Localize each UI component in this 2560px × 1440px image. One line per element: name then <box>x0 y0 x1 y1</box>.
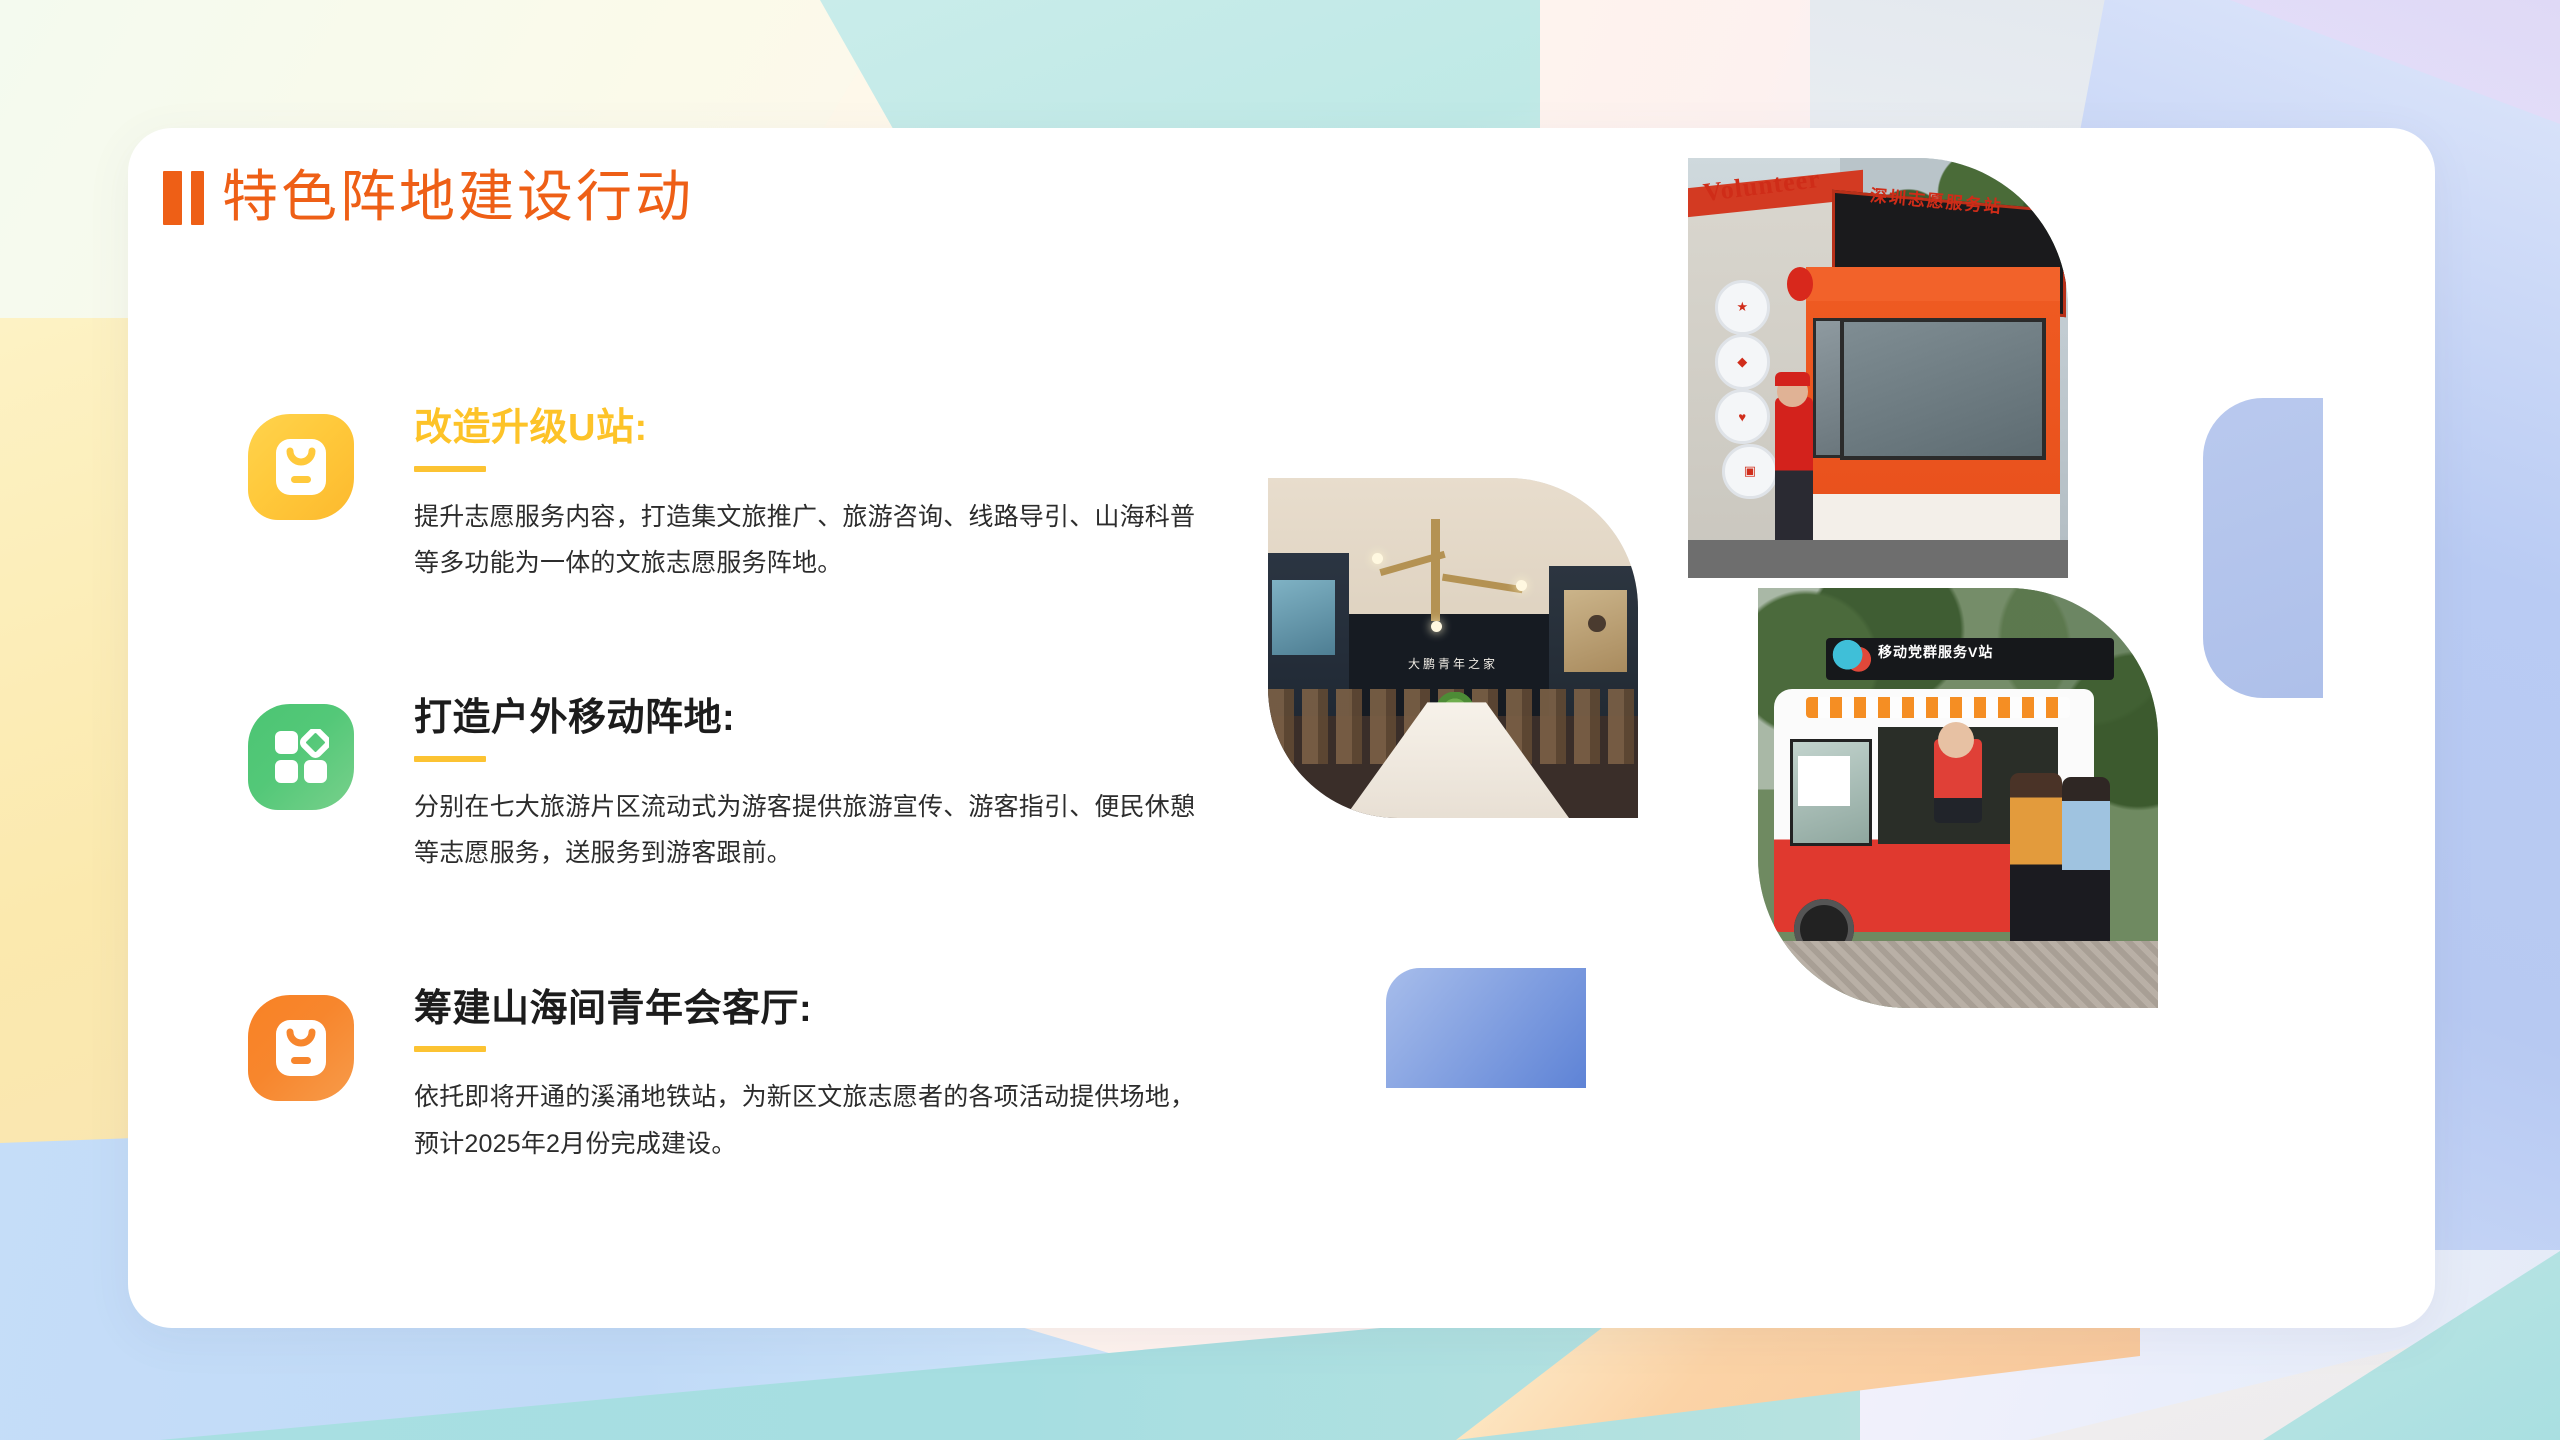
title-bar-2-icon <box>191 171 204 225</box>
list-item-body: 改造升级U站: 提升志愿服务内容，打造集文旅推广、旅游咨询、线路导引、山海科普等… <box>414 408 1214 586</box>
page-title-text: 特色阵地建设行动 <box>222 170 694 226</box>
list-item-body: 筹建山海间青年会客厅: 依托即将开通的溪涌地铁站，为新区文旅志愿者的各项活动提供… <box>414 989 1214 1167</box>
title-accent-bars-icon <box>163 171 204 225</box>
volunteer-bag-icon <box>248 995 354 1101</box>
heading-underline <box>414 756 486 762</box>
heading-underline <box>414 1046 486 1052</box>
decorative-blue-shape-bottom-left <box>1386 968 1586 1088</box>
title-bar-1-icon <box>163 171 182 225</box>
photo-caption-mobile-cart: 移动党群服务V站 <box>1878 641 2118 659</box>
list-item-description: 分别在七大旅游片区流动式为游客提供旅游宣传、游客指引、便民休憩等志愿服务，送服务… <box>414 784 1214 877</box>
list-item[interactable]: 筹建山海间青年会客厅: 依托即将开通的溪涌地铁站，为新区文旅志愿者的各项活动提供… <box>248 989 1348 1167</box>
volunteer-station-photo: ★ ◆ ♥ ▣ Volunteer 深圳志愿服务站 <box>1688 158 2068 578</box>
grid-apps-icon <box>248 704 354 810</box>
photo-caption-youth-hall: 大鹏青年之家 <box>1372 655 1535 672</box>
photo-collage: ★ ◆ ♥ ▣ Volunteer 深圳志愿服务站 <box>1458 158 2408 1288</box>
feature-list: 改造升级U站: 提升志愿服务内容，打造集文旅推广、旅游咨询、线路导引、山海科普等… <box>248 408 1348 1167</box>
list-item-description: 提升志愿服务内容，打造集文旅推广、旅游咨询、线路导引、山海科普等多功能为一体的文… <box>414 494 1214 587</box>
youth-hall-interior-photo: 大鹏青年之家 <box>1268 478 1638 818</box>
heading-underline <box>414 466 486 472</box>
list-item-heading: 改造升级U站: <box>414 408 1214 450</box>
list-item-heading: 打造户外移动阵地: <box>414 698 1214 740</box>
mobile-service-cart-photo: 移动党群服务V站 <box>1758 588 2158 1008</box>
list-item-description: 依托即将开通的溪涌地铁站，为新区文旅志愿者的各项活动提供场地，预计2025年2月… <box>414 1074 1214 1167</box>
content-card: 特色阵地建设行动 改造升级U站: 提升志愿服务内容，打造集文旅推广、旅游咨询、线… <box>128 128 2435 1328</box>
volunteer-bag-icon <box>248 414 354 520</box>
list-item[interactable]: 打造户外移动阵地: 分别在七大旅游片区流动式为游客提供旅游宣传、游客指引、便民休… <box>248 698 1348 876</box>
list-item[interactable]: 改造升级U站: 提升志愿服务内容，打造集文旅推广、旅游咨询、线路导引、山海科普等… <box>248 408 1348 586</box>
page-title: 特色阵地建设行动 <box>163 170 694 226</box>
list-item-body: 打造户外移动阵地: 分别在七大旅游片区流动式为游客提供旅游宣传、游客指引、便民休… <box>414 698 1214 876</box>
decorative-blue-shape-right <box>2203 398 2323 698</box>
list-item-heading: 筹建山海间青年会客厅: <box>414 989 1214 1031</box>
